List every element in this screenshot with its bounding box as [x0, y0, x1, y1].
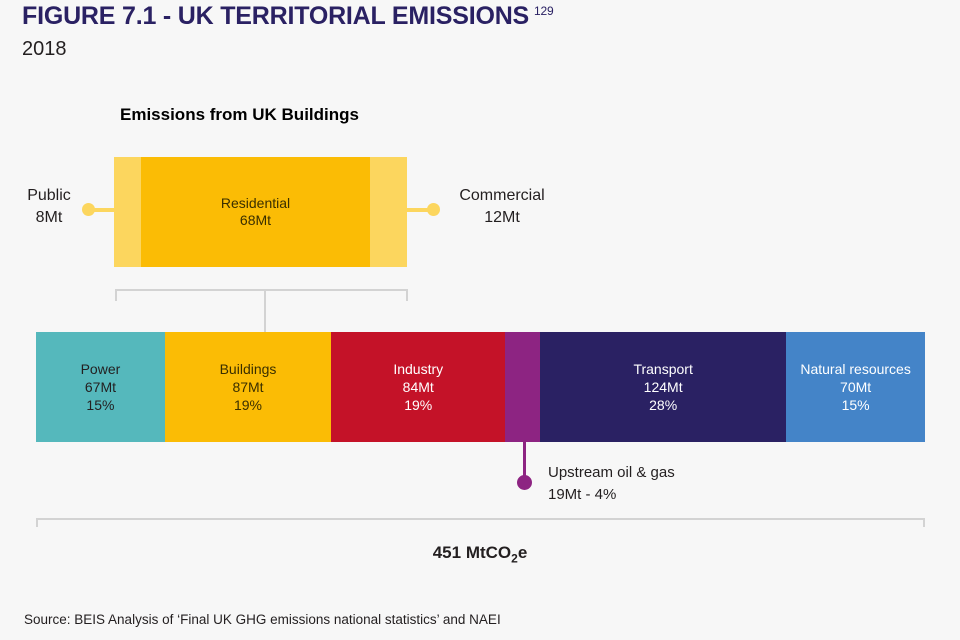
segment-value: 124Mt: [644, 378, 683, 396]
breakout-residential-label: Residential: [221, 195, 290, 211]
bar-segment-power[interactable]: Power67Mt15%: [36, 332, 165, 442]
segment-value: 67Mt: [85, 378, 116, 396]
total-unit: MtCO2e: [466, 543, 527, 562]
commercial-label: Commercial: [459, 187, 544, 204]
commercial-value: 12Mt: [484, 209, 520, 226]
segment-percentage: 19%: [404, 396, 432, 414]
breakout-segment-residential: Residential 68Mt: [141, 157, 370, 267]
bar-segment-transport[interactable]: Transport124Mt28%: [540, 332, 786, 442]
total-unit-suffix: e: [518, 543, 527, 562]
segment-label: Power: [81, 360, 121, 378]
total-label: 451 MtCO2e: [0, 543, 960, 565]
segment-percentage: 15%: [842, 396, 870, 414]
upstream-callout-text: Upstream oil & gas 19Mt - 4%: [548, 462, 675, 506]
breakout-residential-value: 68Mt: [240, 212, 271, 228]
commercial-callout: Commercial 12Mt: [450, 185, 554, 228]
bar-segment-natural-resources[interactable]: Natural resources70Mt15%: [786, 332, 925, 442]
segment-label: Buildings: [220, 360, 277, 378]
segment-value: 70Mt: [840, 378, 871, 396]
segment-percentage: 28%: [649, 396, 677, 414]
figure-subtitle: 2018: [22, 38, 67, 61]
source-note: Source: BEIS Analysis of ‘Final UK GHG e…: [24, 612, 501, 627]
buildings-breakout-bar: Residential 68Mt: [114, 157, 407, 267]
public-callout: Public 8Mt: [18, 185, 80, 228]
commercial-leader-dot: [427, 203, 440, 216]
territorial-emissions-bar: Power67Mt15%Buildings87Mt19%Industry84Mt…: [36, 332, 925, 442]
breakout-bracket-stem: [264, 289, 266, 332]
bar-segment-industry[interactable]: Industry84Mt19%: [331, 332, 505, 442]
upstream-value: 19Mt - 4%: [548, 486, 616, 503]
segment-label: Industry: [393, 360, 443, 378]
upstream-label: Upstream oil & gas: [548, 464, 675, 481]
public-label: Public: [27, 187, 71, 204]
breakout-segment-public: [114, 157, 141, 267]
total-unit-subscript: 2: [511, 551, 518, 565]
segment-percentage: 19%: [234, 396, 262, 414]
public-leader-dot: [82, 203, 95, 216]
bar-segment-buildings[interactable]: Buildings87Mt19%: [165, 332, 331, 442]
total-unit-prefix: MtCO: [466, 543, 511, 562]
breakout-bracket: [115, 289, 408, 301]
public-value: 8Mt: [36, 209, 63, 226]
segment-percentage: 15%: [86, 396, 114, 414]
segment-value: 84Mt: [403, 378, 434, 396]
total-value: 451: [433, 543, 461, 562]
segment-value: 87Mt: [232, 378, 263, 396]
page-title: FIGURE 7.1 - UK TERRITORIAL EMISSIONS129: [22, 2, 553, 31]
segment-label: Natural resources: [800, 360, 911, 378]
segment-label: Transport: [633, 360, 692, 378]
breakout-segment-commercial: [370, 157, 407, 267]
total-bracket: [36, 518, 925, 527]
breakout-heading: Emissions from UK Buildings: [120, 105, 359, 125]
footnote-marker: 129: [534, 4, 553, 18]
figure-title-text: FIGURE 7.1 - UK TERRITORIAL EMISSIONS: [22, 2, 529, 30]
upstream-callout-dot: [517, 475, 532, 490]
bar-segment-upstream-oil-gas[interactable]: [505, 332, 540, 442]
